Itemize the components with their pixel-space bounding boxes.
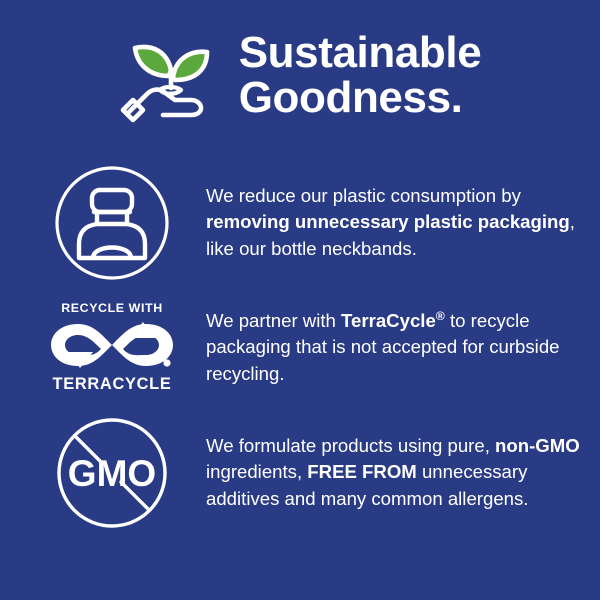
terracycle-lockup: RECYCLE WITH TERRACYCLE (47, 301, 177, 394)
text-segment-bold: TerraCycle (341, 310, 436, 331)
plastic-bottle-neckband-icon (46, 164, 178, 282)
list-item-text: We reduce our plastic consumption by rem… (178, 183, 600, 262)
benefits-list: We reduce our plastic consumption by rem… (0, 160, 600, 535)
hand-holding-sprout-icon (119, 26, 223, 130)
page-title: Sustainable Goodness. (239, 31, 482, 125)
text-segment-bold: non-GMO (495, 435, 580, 456)
text-segment-bold: FREE FROM (307, 461, 417, 482)
registered-mark: ® (436, 309, 445, 323)
list-item: RECYCLE WITH TERRACYCLE We partne (0, 285, 600, 410)
list-item-text: We partner with TerraCycle® to recycle p… (178, 308, 600, 387)
list-item-text: We formulate products using pure, non-GM… (178, 433, 600, 512)
text-segment-bold: removing unnecessary plastic packaging (206, 211, 570, 232)
infinity-recycle-arrows-icon (47, 316, 177, 374)
terracycle-top-label: RECYCLE WITH (61, 301, 163, 315)
terracycle-bottom-label: TERRACYCLE (52, 375, 171, 394)
header: Sustainable Goodness. (0, 26, 600, 130)
text-segment: We reduce our plastic consumption by (206, 185, 521, 206)
sustainable-goodness-infographic: Sustainable Goodness. (0, 0, 600, 600)
no-gmo-icon: GMO (46, 414, 178, 532)
text-segment: We partner with (206, 310, 341, 331)
text-segment: We formulate products using pure, (206, 435, 495, 456)
list-item: GMO We formulate products using pure, no… (0, 410, 600, 535)
terracycle-logo-icon: RECYCLE WITH TERRACYCLE (46, 301, 178, 394)
text-segment: ingredients, (206, 461, 307, 482)
no-gmo-label: GMO (68, 453, 156, 494)
list-item: We reduce our plastic consumption by rem… (0, 160, 600, 285)
